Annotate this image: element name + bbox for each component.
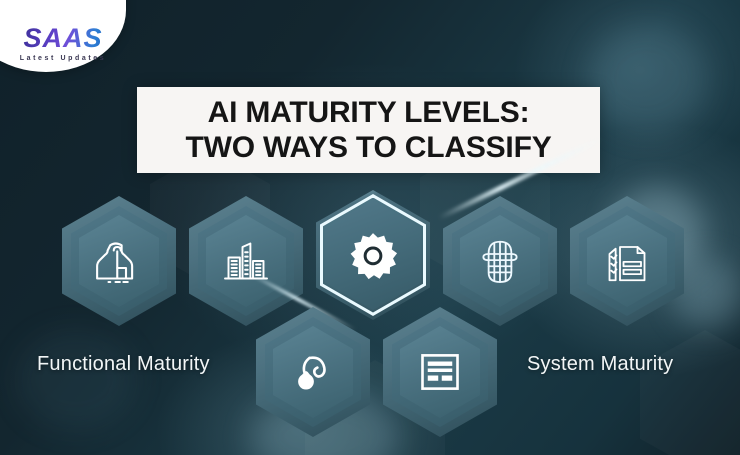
hexagon-tile-gear[interactable] — [316, 190, 430, 320]
buildings-icon — [218, 233, 274, 289]
label-system-maturity: System Maturity — [527, 353, 673, 376]
hexagon-tile-factory[interactable] — [62, 196, 176, 326]
background-hexagon-watermark — [640, 330, 740, 455]
logo-inner: SAAS Latest Updates — [20, 25, 107, 62]
dropper-icon — [285, 344, 341, 400]
hexagon-tile-dropper[interactable] — [256, 307, 370, 437]
hexagon-tile-documents[interactable] — [570, 196, 684, 326]
page-title-line-2: TWO WAYS TO CLASSIFY — [185, 130, 551, 165]
logo-tagline: Latest Updates — [20, 55, 107, 62]
hexagon-tile-article[interactable] — [383, 307, 497, 437]
factory-icon — [91, 233, 147, 289]
logo-wordmark: SAAS — [20, 25, 107, 52]
globe-grid-icon — [472, 233, 528, 289]
article-icon — [412, 344, 468, 400]
ai-maturity-banner: SAAS Latest Updates AI MATURITY LEVELS: … — [0, 0, 740, 455]
page-title-line-1: AI MATURITY LEVELS: — [208, 95, 530, 130]
label-functional-maturity: Functional Maturity — [37, 353, 210, 376]
hexagon-tile-buildings[interactable] — [189, 196, 303, 326]
gear-icon — [345, 227, 401, 283]
bokeh-glow — [16, 330, 136, 430]
documents-icon — [599, 233, 655, 289]
site-logo[interactable]: SAAS Latest Updates — [0, 0, 126, 72]
page-title: AI MATURITY LEVELS: TWO WAYS TO CLASSIFY — [137, 87, 600, 173]
hexagon-tile-globe-grid[interactable] — [443, 196, 557, 326]
bokeh-glow — [588, 24, 708, 134]
